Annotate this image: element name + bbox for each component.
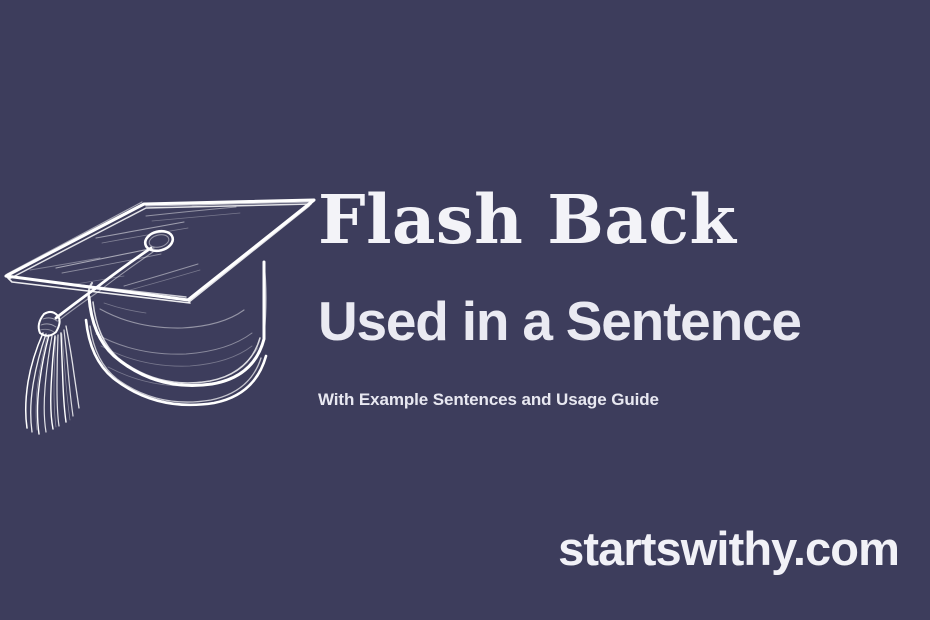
page-title: Flash Back [318, 186, 908, 253]
promo-card: Flash Back Used in a Sentence With Examp… [0, 0, 930, 620]
graduation-cap-sketch-icon [0, 176, 326, 444]
text-block: Flash Back Used in a Sentence With Examp… [318, 186, 908, 408]
tagline: With Example Sentences and Usage Guide [318, 349, 908, 408]
headline: Used in a Sentence [318, 253, 908, 349]
brand-name: startswithy.com [558, 525, 899, 572]
